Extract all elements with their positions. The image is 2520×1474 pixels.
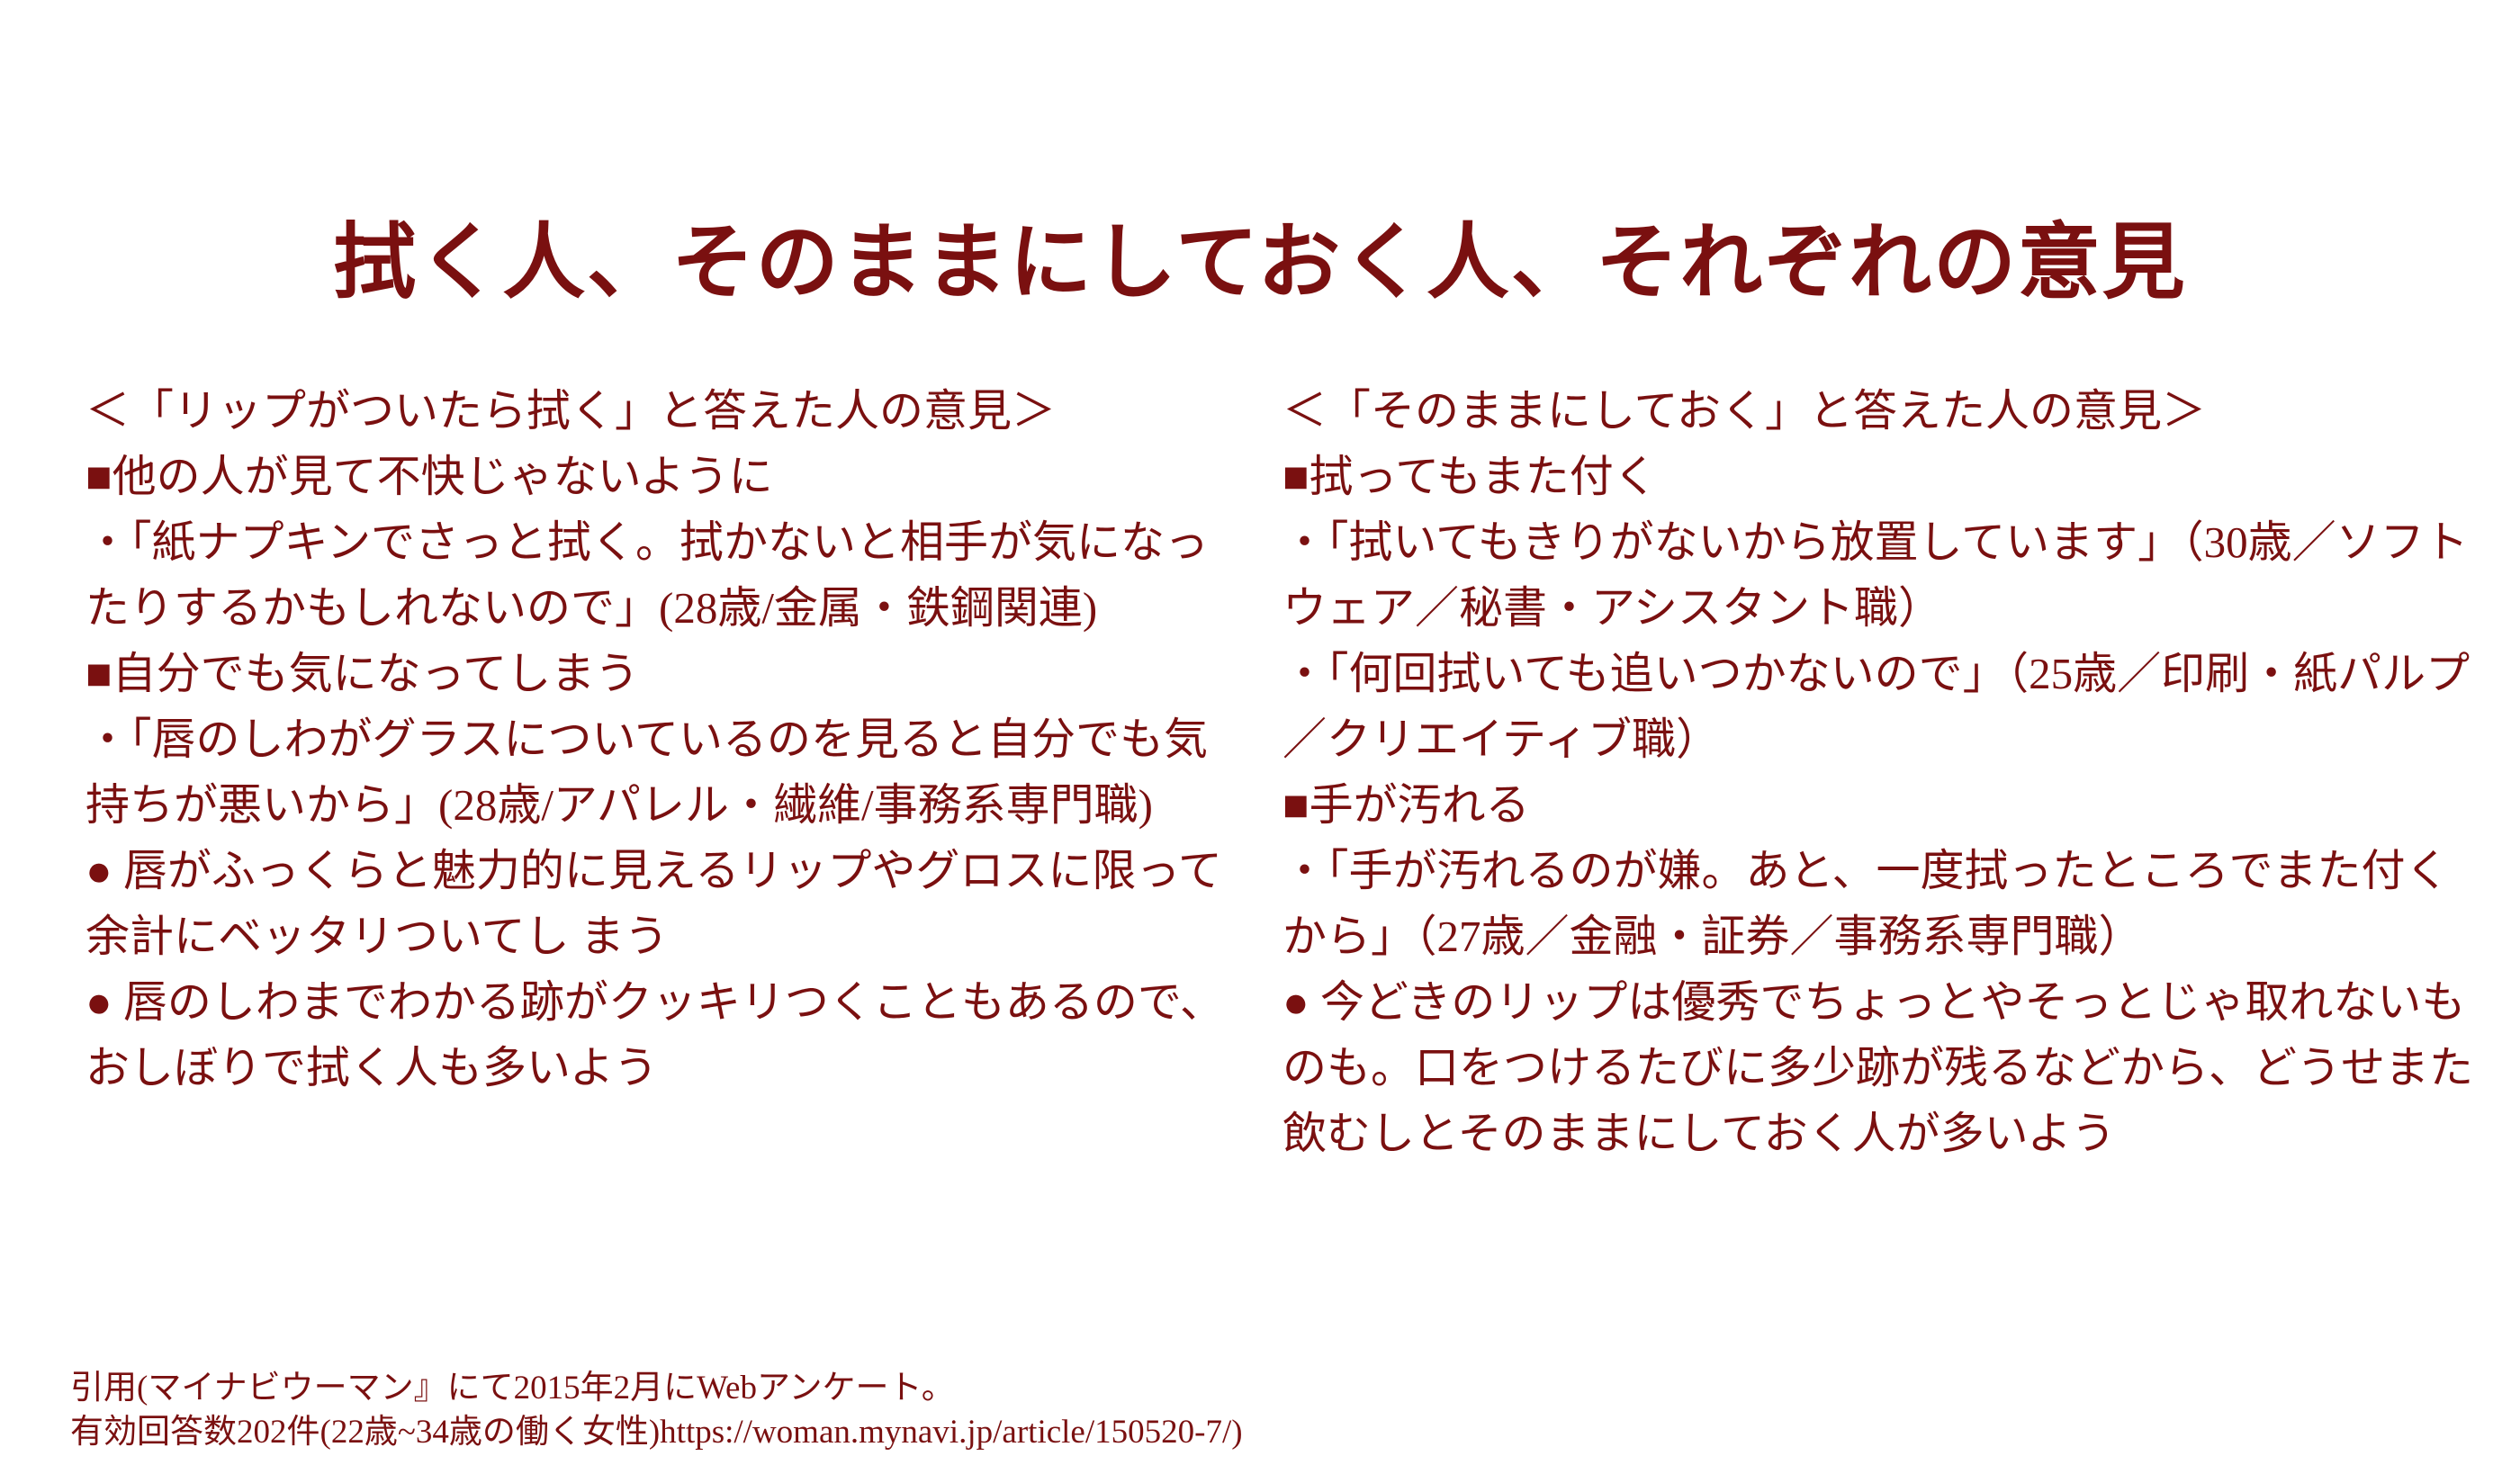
left-block-1-heading: ■他の人が見て不快じゃないように [85,444,1246,509]
right-column-heading: ＜「そのままにしておく」と答えた人の意見＞ [1282,378,2488,444]
left-column-heading: ＜「リップがついたら拭く」と答えた人の意見＞ [85,378,1246,444]
left-column: ＜「リップがついたら拭く」と答えた人の意見＞ ■他の人が見て不快じゃないように … [85,378,1246,1101]
content-columns: ＜「リップがついたら拭く」と答えた人の意見＞ ■他の人が見て不快じゃないように … [0,378,2520,1332]
right-column: ＜「そのままにしておく」と答えた人の意見＞ ■拭ってもまた付く ・「拭いてもきり… [1282,378,2488,1166]
slide-canvas: 拭く人、そのままにしておく人、それぞれの意見 ＜「リップがついたら拭く」と答えた… [0,0,2520,1474]
left-block-2-heading: ■自分でも気になってしまう [85,641,1246,706]
citation-line-1: 引用(マイナビウーマン』にて2015年2月にWebアンケート。 [70,1366,1870,1410]
left-block-4-body: ● 唇のしわまでわかる跡がクッキリつくこともあるので、おしぼりで拭く人も多いよう [85,969,1246,1101]
right-block-3-heading: ■手が汚れる [1282,772,2488,838]
right-block-1-heading: ■拭ってもまた付く [1282,444,2488,509]
citation-footer: 引用(マイナビウーマン』にて2015年2月にWebアンケート。 有効回答数202… [70,1366,1870,1454]
right-block-4-body: ● 今どきのリップは優秀でちょっとやそっとじゃ取れないものも。口をつけるたびに多… [1282,969,2488,1166]
right-block-1-body: ・「拭いてもきりがないから放置しています」（30歳／ソフトウェア／秘書・アシスタ… [1282,509,2488,641]
right-block-3-body: ・「手が汚れるのが嫌。あと、一度拭ったところでまた付くから」（27歳／金融・証券… [1282,838,2488,969]
citation-line-2: 有効回答数202件(22歳~34歳の働く女性)https://woman.myn… [70,1410,1870,1454]
page-title: 拭く人、そのままにしておく人、それぞれの意見 [0,220,2520,307]
left-block-3-body: ● 唇がふっくらと魅力的に見えるリップやグロスに限って余計にベッタリついてし ま… [85,838,1246,969]
left-block-2-body: ・「唇のしわがグラスについているのを見ると自分でも気持ちが悪いから」(28歳/ア… [85,706,1246,838]
right-block-2-body: ・「何回拭いても追いつかないので」（25歳／印刷・紙パルプ／クリエイティブ職） [1282,641,2488,772]
left-block-1-body: ・「紙ナプキンでさっと拭く。拭かないと相手が気になったりするかもしれないので」(… [85,509,1246,641]
